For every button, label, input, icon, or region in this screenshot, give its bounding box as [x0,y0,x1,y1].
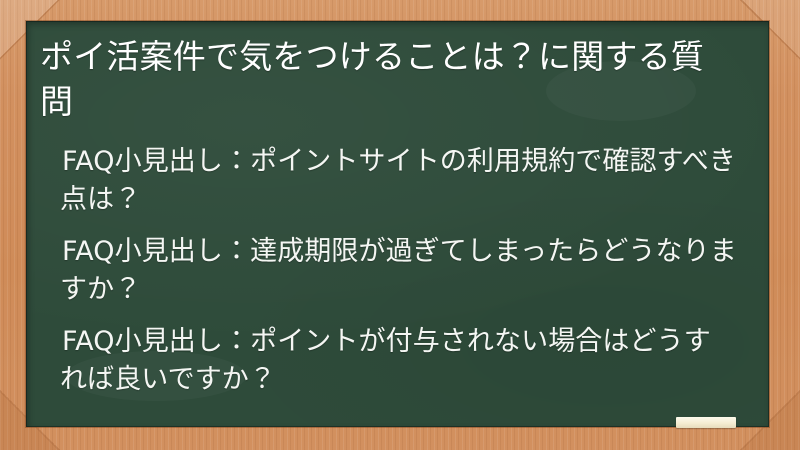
page-title: ポイ活案件で気をつけることは？に関する質問 [33,35,747,125]
chalk-stick-icon [676,417,736,428]
list-item: FAQ小見出し：達成期限が過ぎてしまったらどうなりますか？ [60,233,737,309]
list-item: FAQ小見出し：ポイントサイトの利用規約で確認すべき点は？ [60,143,737,219]
blackboard-frame: ポイ活案件で気をつけることは？に関する質問 FAQ小見出し：ポイントサイトの利用… [0,0,800,450]
faq-list: FAQ小見出し：ポイントサイトの利用規約で確認すべき点は？ FAQ小見出し：達成… [33,143,747,399]
chalkboard-surface: ポイ活案件で気をつけることは？に関する質問 FAQ小見出し：ポイントサイトの利用… [26,21,769,427]
list-item: FAQ小見出し：ポイントが付与されない場合はどうすれば良いですか？ [60,323,737,399]
